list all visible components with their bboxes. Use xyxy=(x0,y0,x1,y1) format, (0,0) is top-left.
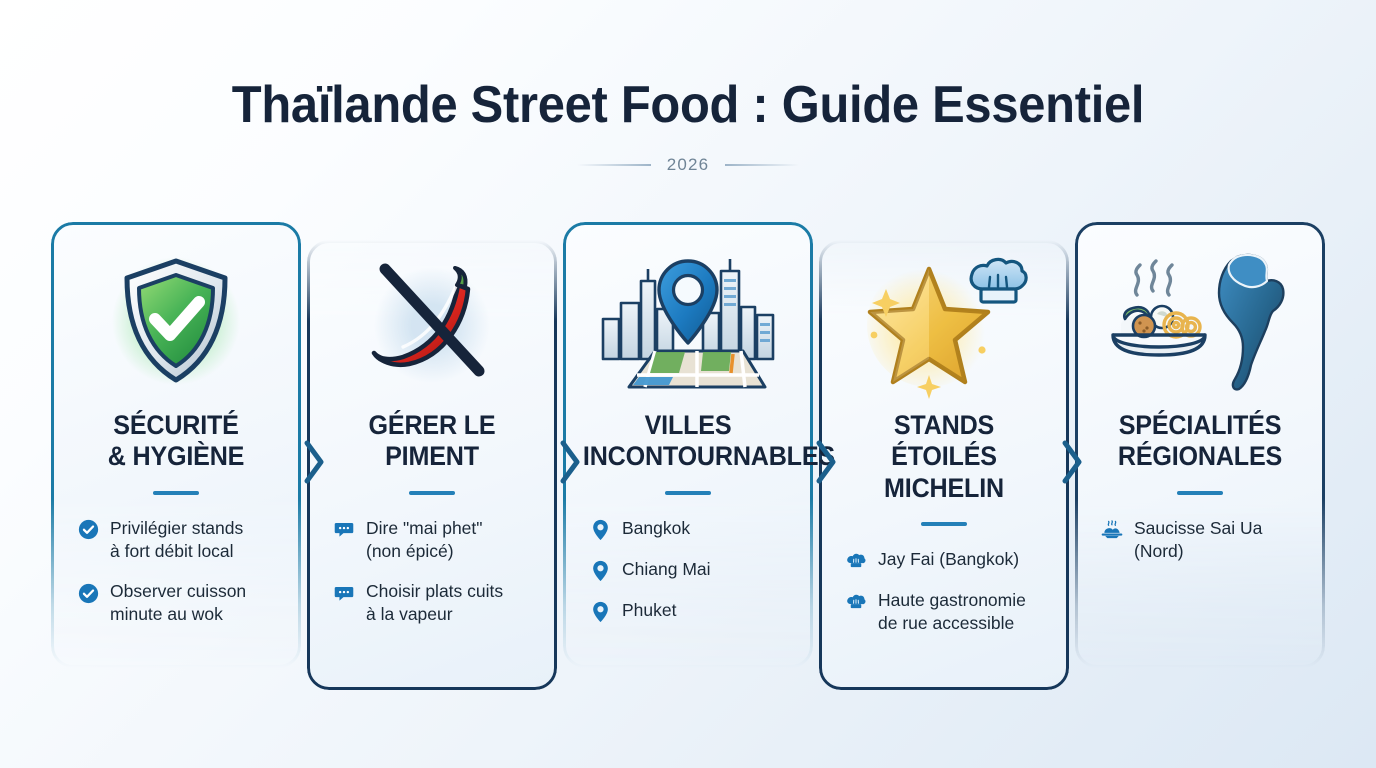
list-item[interactable]: Jay Fai (Bangkok) xyxy=(845,548,1051,572)
steaming-dish-icon xyxy=(1101,519,1123,541)
card-row: SÉCURITÉ & HYGIÈNE Privilégier stands à … xyxy=(0,222,1376,702)
title-divider xyxy=(921,522,967,526)
list-item-label: Chiang Mai xyxy=(622,558,711,581)
list-item[interactable]: Haute gastronomie de rue accessible xyxy=(845,589,1051,636)
speech-bubble-icon xyxy=(333,582,355,604)
list-item-label: Bangkok xyxy=(622,517,690,540)
page-title: Thaïlande Street Food : Guide Essentiel xyxy=(41,78,1334,133)
subtitle-row: 2026 xyxy=(0,155,1376,175)
list-item-label: Haute gastronomie de rue accessible xyxy=(878,589,1026,636)
no-chili-pepper-icon xyxy=(319,238,545,406)
infographic-header: Thaïlande Street Food : Guide Essentiel … xyxy=(0,0,1376,175)
map-pin-icon xyxy=(589,519,611,541)
bullet-list: Bangkok Chiang Mai Phuket xyxy=(575,517,801,623)
title-divider xyxy=(409,491,455,495)
title-divider xyxy=(153,491,199,495)
bullet-list: Dire "mai phet" (non épicé) Choisir plat… xyxy=(319,517,545,627)
speech-bubble-icon xyxy=(333,519,355,541)
plate-thailand-map-icon xyxy=(1087,238,1313,406)
list-item[interactable]: Bangkok xyxy=(589,517,795,541)
city-map-pin-icon xyxy=(575,238,801,406)
list-item-label: Dire "mai phet" (non épicé) xyxy=(366,517,483,564)
card-title: GÉRER LE PIMENT xyxy=(327,410,537,473)
card-gerer-le-piment[interactable]: GÉRER LE PIMENT Dire "mai phet" (non épi… xyxy=(307,222,557,653)
title-divider xyxy=(665,491,711,495)
list-item[interactable]: Dire "mai phet" (non épicé) xyxy=(333,517,539,564)
list-item[interactable]: Phuket xyxy=(589,599,795,623)
list-item-label: Jay Fai (Bangkok) xyxy=(878,548,1019,571)
check-circle-icon xyxy=(77,582,99,604)
card-title: SÉCURITÉ & HYGIÈNE xyxy=(71,410,281,473)
card-stands-etoiles-michelin[interactable]: STANDS ÉTOILÉS MICHELIN Jay Fai (Bangkok… xyxy=(819,222,1069,661)
check-circle-icon xyxy=(77,519,99,541)
map-pin-icon xyxy=(589,560,611,582)
card-specialites-regionales[interactable]: SPÉCIALITÉS RÉGIONALES Saucisse Sai Ua (… xyxy=(1075,222,1325,589)
list-item[interactable]: Choisir plats cuits à la vapeur xyxy=(333,580,539,627)
bullet-list: Saucisse Sai Ua (Nord) xyxy=(1087,517,1313,564)
card-title: STANDS ÉTOILÉS MICHELIN xyxy=(839,410,1049,504)
subtitle-rule-right xyxy=(725,164,799,166)
chef-hat-icon xyxy=(845,550,867,572)
list-item-label: Choisir plats cuits à la vapeur xyxy=(366,580,503,627)
card-title: SPÉCIALITÉS RÉGIONALES xyxy=(1095,410,1305,473)
card-title: VILLES INCONTOURNABLES xyxy=(583,410,793,473)
gold-star-chef-hat-icon xyxy=(831,238,1057,406)
list-item-label: Observer cuisson minute au wok xyxy=(110,580,246,627)
list-item-label: Privilégier stands à fort débit local xyxy=(110,517,243,564)
list-item[interactable]: Privilégier stands à fort débit local xyxy=(77,517,283,564)
bullet-list: Jay Fai (Bangkok) Haute gastronomie de r… xyxy=(831,548,1057,636)
list-item[interactable]: Observer cuisson minute au wok xyxy=(77,580,283,627)
bullet-list: Privilégier stands à fort débit local Ob… xyxy=(63,517,289,627)
list-item-label: Phuket xyxy=(622,599,676,622)
card-villes-incontournables[interactable]: VILLES INCONTOURNABLES Bangkok Chiang Ma… xyxy=(563,222,813,649)
list-item-label: Saucisse Sai Ua (Nord) xyxy=(1134,517,1262,564)
year-label: 2026 xyxy=(667,155,710,175)
green-shield-check-icon xyxy=(63,238,289,406)
subtitle-rule-left xyxy=(577,164,651,166)
list-item[interactable]: Saucisse Sai Ua (Nord) xyxy=(1101,517,1307,564)
list-item[interactable]: Chiang Mai xyxy=(589,558,795,582)
map-pin-icon xyxy=(589,601,611,623)
title-divider xyxy=(1177,491,1223,495)
card-securite-hygiene[interactable]: SÉCURITÉ & HYGIÈNE Privilégier stands à … xyxy=(51,222,301,653)
chef-hat-icon xyxy=(845,591,867,613)
